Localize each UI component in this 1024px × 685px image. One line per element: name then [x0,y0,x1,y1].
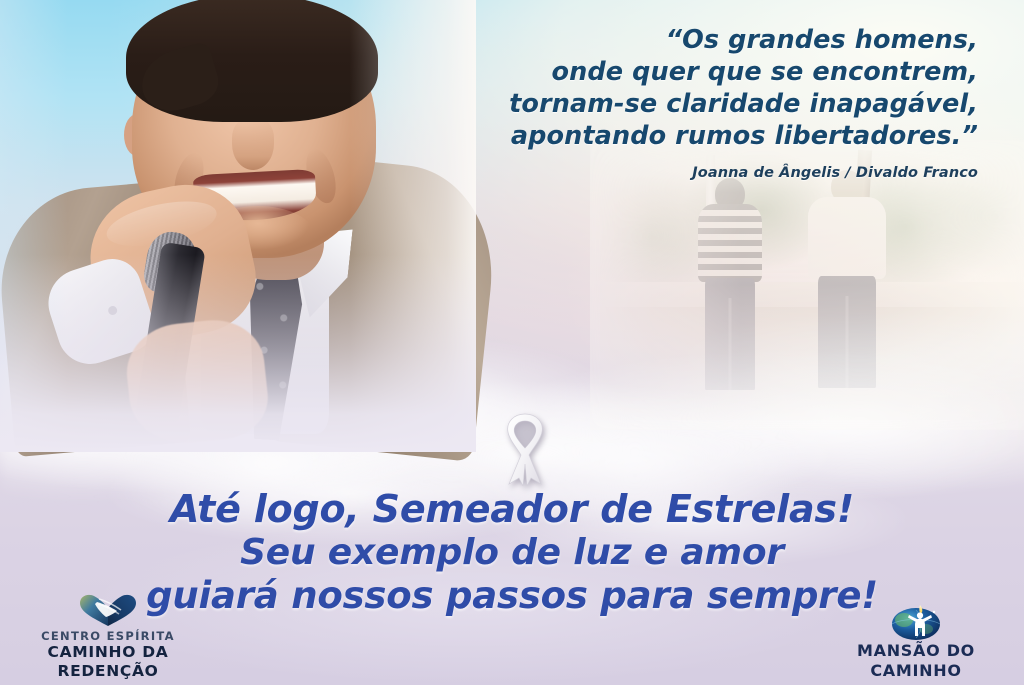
portrait-fade-mask [0,0,476,452]
logo-centro-espirita-caminho-da-redencao[interactable]: CENTRO ESPÍRITA CAMINHO DA REDENÇÃO [8,591,208,681]
logo-left-line-2: CAMINHO DA REDENÇÃO [8,643,208,681]
memorial-poster: “Os grandes homens, onde quer que se enc… [0,0,1024,685]
portrait-divaldo-franco [0,0,466,442]
background-photo-walking-figures [600,150,1024,420]
logo-left-line-1: CENTRO ESPÍRITA [8,629,208,643]
photo-fade-mask [590,140,1024,430]
headline-line-2: Seu exemplo de luz e amor [0,531,1024,574]
quote-block: “Os grandes homens, onde quer que se enc… [418,24,978,181]
headline-line-1: Até logo, Semeador de Estrelas! [0,487,1024,531]
mourning-ribbon-icon [489,408,561,486]
globe-figure-icon [816,603,1016,641]
quote-line-3: tornam-se claridade inapagável, [418,88,978,120]
heart-hands-icon [8,591,208,629]
quote-line-4: apontando rumos libertadores.” [418,120,978,152]
quote-line-2: onde quer que se encontrem, [418,56,978,88]
logo-mansao-do-caminho[interactable]: MANSÃO DO CAMINHO [816,603,1016,681]
logo-right-name: MANSÃO DO CAMINHO [816,641,1016,681]
quote-line-1: “Os grandes homens, [418,24,978,56]
quote-attribution: Joanna de Ângelis / Divaldo Franco [418,165,978,181]
